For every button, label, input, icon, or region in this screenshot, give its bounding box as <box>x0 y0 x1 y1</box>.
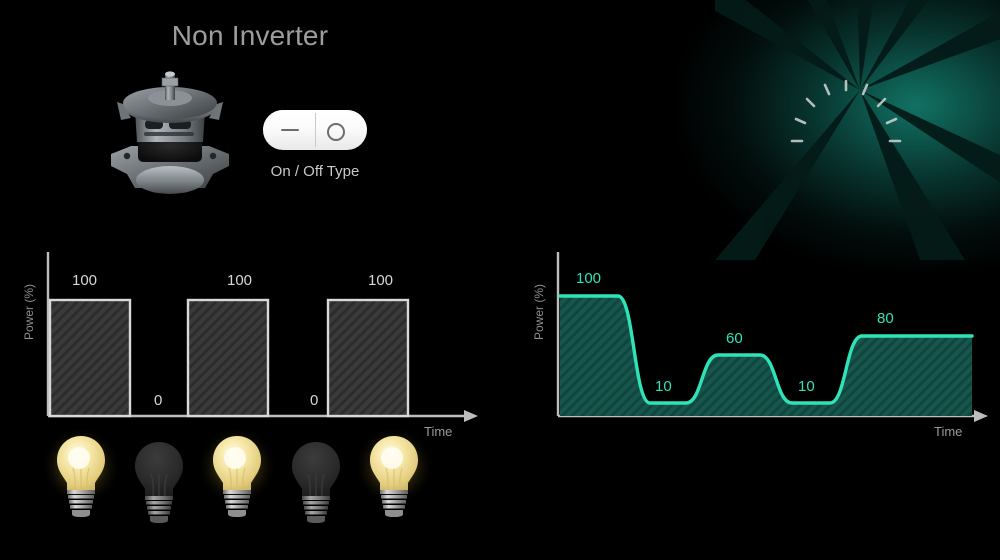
value-label-3: 60 <box>726 330 743 347</box>
bulb-on-2 <box>201 428 273 524</box>
bulb-on-1 <box>45 428 117 524</box>
knob-tick-marks <box>782 77 910 205</box>
value-label-3: 100 <box>227 272 252 289</box>
non-inverter-panel: Non Inverter <box>0 0 500 560</box>
on-off-toggle-switch[interactable] <box>263 110 367 150</box>
value-label-1: 100 <box>576 270 601 287</box>
inverter-panel: Inverter <box>500 0 1000 560</box>
bulb-row-non-inverter <box>20 428 480 528</box>
comparison-infographic: Non Inverter <box>0 0 1000 560</box>
bulb-off-2 <box>280 434 352 530</box>
chart-xlabel-right: Time <box>934 424 962 439</box>
page-title-non-inverter: Non Inverter <box>0 20 500 52</box>
on-off-type-caption: On / Off Type <box>200 163 430 180</box>
bulb-off-1 <box>123 434 195 530</box>
value-label-5: 80 <box>877 310 894 327</box>
chart-ylabel-right: Power (%) <box>532 284 546 340</box>
value-label-2: 10 <box>655 378 672 395</box>
bulb-on-3 <box>358 428 430 524</box>
minus-icon <box>281 129 299 131</box>
chart-ylabel-left: Power (%) <box>22 284 36 340</box>
inverter-chart: Power (%) 100 10 60 10 80 Time <box>530 248 990 438</box>
non-inverter-motor-image <box>95 62 245 202</box>
value-label-4: 10 <box>798 378 815 395</box>
circle-icon <box>327 123 345 141</box>
value-label-1: 100 <box>72 272 97 289</box>
toggle-divider <box>315 113 316 147</box>
value-label-2: 0 <box>154 392 162 409</box>
non-inverter-chart: Power (%) 100 0 100 0 <box>20 248 480 438</box>
value-label-5: 100 <box>368 272 393 289</box>
value-label-4: 0 <box>310 392 318 409</box>
